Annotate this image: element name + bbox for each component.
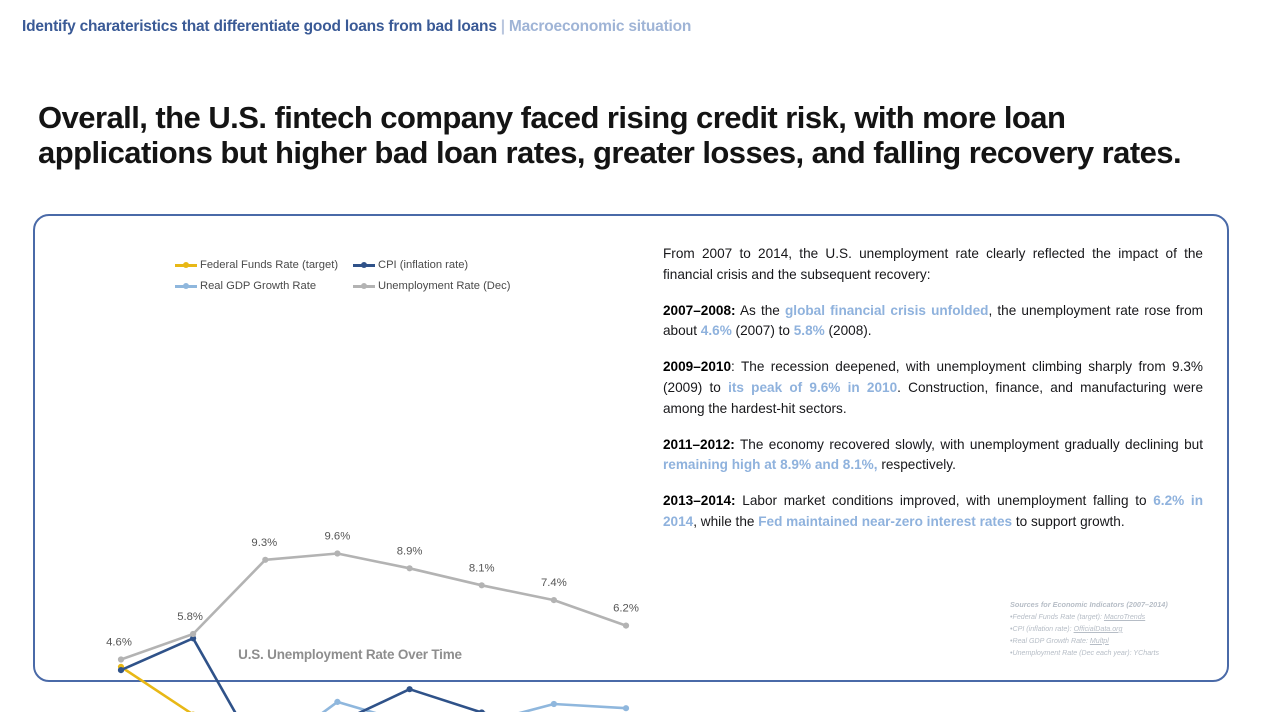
legend-item-real-gdp-growth[interactable]: Real GDP Growth Rate [175,280,353,292]
analysis-2013-2014: 2013–2014: Labor market conditions impro… [663,491,1203,533]
text-segment: to support growth. [1012,514,1125,529]
breadcrumb-main: Identify charateristics that differentia… [22,18,497,35]
text-segment: (2007) to [732,323,794,338]
analysis-2009-2010: 2009–2010: The recession deepened, with … [663,357,1203,419]
legend-swatch-icon [353,261,375,270]
source-label: •Federal Funds Rate (target): [1010,613,1104,621]
slide-root: Identify charateristics that differentia… [0,0,1274,712]
text-segment: (2008). [825,323,872,338]
source-link[interactable]: OfficialData.org [1074,625,1123,633]
source-item: •CPI (inflation rate): OfficialData.org [1010,624,1210,636]
highlight-text: global financial crisis unfolded [785,303,988,318]
legend-swatch-icon [175,261,197,270]
source-label: •CPI (inflation rate): [1010,625,1074,633]
breadcrumb-sub: Macroeconomic situation [509,18,691,35]
highlight-value: 4.6% [701,323,732,338]
highlight-text: its peak of 9.6% in 2010 [728,380,897,395]
data-label: 5.8% [177,611,203,623]
legend-swatch-icon [353,282,375,291]
highlight-value: 5.8% [794,323,825,338]
data-label: 8.1% [469,562,495,574]
period-label: 2007–2008: [663,303,736,318]
sources-title: Sources for Economic Indicators (2007–20… [1010,600,1210,609]
breadcrumb: Identify charateristics that differentia… [22,18,691,36]
source-label: •Real GDP Growth Rate: [1010,637,1090,645]
chart-pane: Federal Funds Rate (target) CPI (inflati… [35,216,665,680]
chart-legend: Federal Funds Rate (target) CPI (inflati… [175,259,515,301]
legend-item-cpi[interactable]: CPI (inflation rate) [353,259,513,271]
highlight-text: remaining high at 8.9% and 8.1%, [663,457,878,472]
data-label: 7.4% [541,577,567,589]
line-chart: 4.6%5.8%9.3%9.6%8.9%8.1%7.4%6.2%20072008… [35,466,665,712]
legend-label: CPI (inflation rate) [378,259,468,271]
legend-label: Real GDP Growth Rate [200,280,316,292]
sources-block: Sources for Economic Indicators (2007–20… [1010,600,1210,660]
analysis-2011-2012: 2011–2012: The economy recovered slowly,… [663,435,1203,477]
source-item: •Real GDP Growth Rate: Multpl [1010,636,1210,648]
legend-item-federal-funds-rate[interactable]: Federal Funds Rate (target) [175,259,353,271]
analysis-pane: From 2007 to 2014, the U.S. unemployment… [663,244,1203,533]
text-segment: As the [736,303,785,318]
analysis-intro-text: From 2007 to 2014, the U.S. unemployment… [663,246,1203,282]
chart-svg: 4.6%5.8%9.3%9.6%8.9%8.1%7.4%6.2%20072008… [35,466,665,712]
source-item: •Unemployment Rate (Dec each year): YCha… [1010,648,1210,660]
legend-item-unemployment-rate[interactable]: Unemployment Rate (Dec) [353,280,513,292]
data-label: 9.3% [251,537,277,549]
chart-title: U.S. Unemployment Rate Over Time [35,647,665,662]
data-label: 9.6% [325,531,351,543]
text-segment: Labor market conditions improved, with u… [736,493,1154,508]
highlight-text: Fed maintained near-zero interest rates [758,514,1012,529]
text-segment: The economy recovered slowly, with unemp… [735,437,1203,452]
legend-label: Unemployment Rate (Dec) [378,280,510,292]
analysis-intro: From 2007 to 2014, the U.S. unemployment… [663,244,1203,286]
source-link[interactable]: MacroTrends [1104,613,1145,621]
page-title: Overall, the U.S. fintech company faced … [38,101,1238,170]
source-link[interactable]: Multpl [1090,637,1109,645]
analysis-2007-2008: 2007–2008: As the global financial crisi… [663,301,1203,343]
legend-swatch-icon [175,282,197,291]
text-segment: respectively. [878,457,956,472]
series-3 [118,550,629,662]
data-label: 8.9% [397,545,423,557]
period-label: 2009–2010 [663,359,731,374]
source-label: •Unemployment Rate (Dec each year): YCha… [1010,649,1159,657]
period-label: 2011–2012: [663,437,735,452]
data-label: 6.2% [613,603,639,615]
period-label: 2013–2014: [663,493,736,508]
source-item: •Federal Funds Rate (target): MacroTrend… [1010,612,1210,624]
legend-label: Federal Funds Rate (target) [200,259,338,271]
text-segment: , while the [693,514,758,529]
breadcrumb-separator: | [497,18,509,35]
